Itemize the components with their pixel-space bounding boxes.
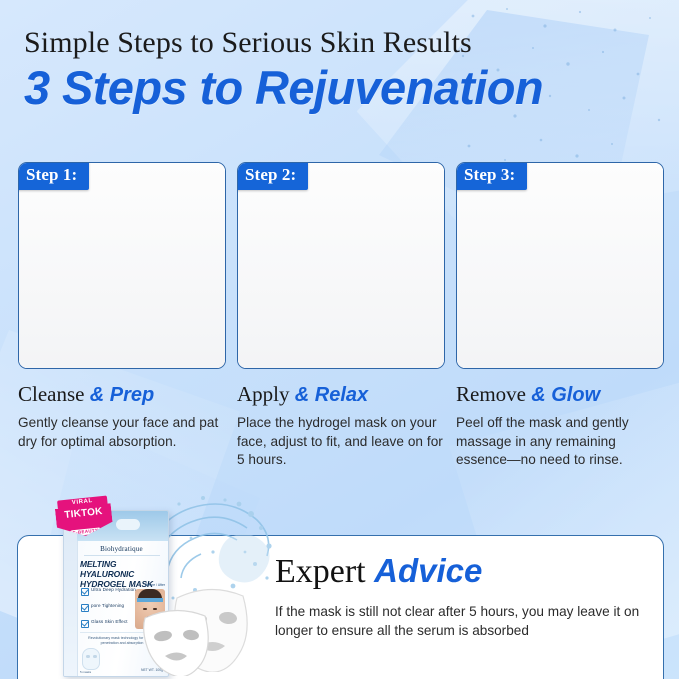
step-2-title-accent: & Relax [295, 384, 368, 406]
step-3-body: Peel off the mask and gently massage in … [456, 414, 662, 470]
expert-advice-title: Expert Advice [275, 551, 665, 592]
hydrogel-mask-sheet-front [137, 604, 215, 676]
step-1-title: Cleanse & Prep [18, 382, 224, 407]
product-benefit-item: pore Tightening [81, 603, 139, 612]
page-title: 3 Steps to Rejuvenation [24, 62, 644, 114]
expert-advice-body: If the mask is still not clear after 5 h… [275, 602, 645, 640]
infographic-page: Simple Steps to Serious Skin Results 3 S… [0, 0, 679, 679]
step-2-badge: Step 2: [237, 162, 308, 190]
step-1-title-accent: & Prep [90, 384, 154, 406]
checkbox-icon [81, 620, 89, 628]
tiktok-shield: TIKTOK C-BEAUTY 4x4 [55, 503, 114, 539]
step-2-title-plain: Apply [237, 382, 295, 406]
product-box-hang-hole [116, 519, 140, 530]
step-2-photo: Step 2: [237, 162, 445, 369]
step-3-title: Remove & Glow [456, 382, 662, 407]
product-benefit-label: pore Tightening [91, 603, 124, 608]
step-3-title-accent: & Glow [531, 384, 600, 406]
product-brand-rule [84, 555, 160, 556]
sheet-mask-icon [82, 648, 100, 670]
step-3-illustration [457, 163, 663, 368]
product-benefit-item: Glass Skin Effect [81, 619, 139, 628]
product-composition: Biohydratique MELTING HYALURONIC HYDROGE… [55, 492, 280, 679]
step-1-photo: Step 1: [18, 162, 226, 369]
product-benefit-list: Ultra Deep Hydration pore Tightening Gla… [81, 587, 139, 635]
step-1-body: Gently cleanse your face and pat dry for… [18, 414, 224, 451]
expert-title-accent: Advice [374, 552, 482, 589]
step-2-title: Apply & Relax [237, 382, 443, 407]
product-name-line1: MELTING HYALURONIC [80, 559, 134, 579]
step-1-title-plain: Cleanse [18, 382, 90, 406]
page-subtitle: Simple Steps to Serious Skin Results [24, 26, 644, 60]
step-3-photo: Step 3: [456, 162, 664, 369]
checkbox-icon [81, 604, 89, 612]
product-mask-count: 5 masks [80, 670, 91, 674]
product-benefit-label: Ultra Deep Hydration [91, 587, 136, 592]
expert-advice-text: Expert Advice If the mask is still not c… [275, 551, 665, 640]
step-card-1: Step 1: Cleanse & Prep Gently cleanse yo… [18, 162, 224, 470]
page-header: Simple Steps to Serious Skin Results 3 S… [24, 26, 644, 114]
steps-row: Step 1: Cleanse & Prep Gently cleanse yo… [18, 162, 662, 470]
step-1-illustration [19, 163, 225, 368]
product-benefit-item: Ultra Deep Hydration [81, 587, 139, 596]
step-2-body: Place the hydrogel mask on your face, ad… [237, 414, 443, 470]
step-2-illustration [238, 163, 444, 368]
product-brand: Biohydratique [79, 545, 164, 553]
expert-title-plain: Expert [275, 553, 374, 590]
product-benefit-label: Glass Skin Effect [91, 619, 128, 624]
before-after-label: Before / After [145, 583, 165, 587]
step-card-2: Step 2: Apply & Relax Place the hydrogel… [237, 162, 443, 470]
face-split-band [137, 598, 163, 602]
step-1-badge: Step 1: [18, 162, 89, 190]
checkbox-icon [81, 588, 89, 596]
cbeauty-label: C-BEAUTY [69, 527, 101, 536]
step-3-title-plain: Remove [456, 382, 531, 406]
viral-tiktok-badge: VIRAL TIKTOK C-BEAUTY 4x4 [53, 495, 115, 541]
step-card-3: Step 3: Remove & Glow Peel off the mask … [456, 162, 662, 470]
step-3-badge: Step 3: [456, 162, 527, 190]
